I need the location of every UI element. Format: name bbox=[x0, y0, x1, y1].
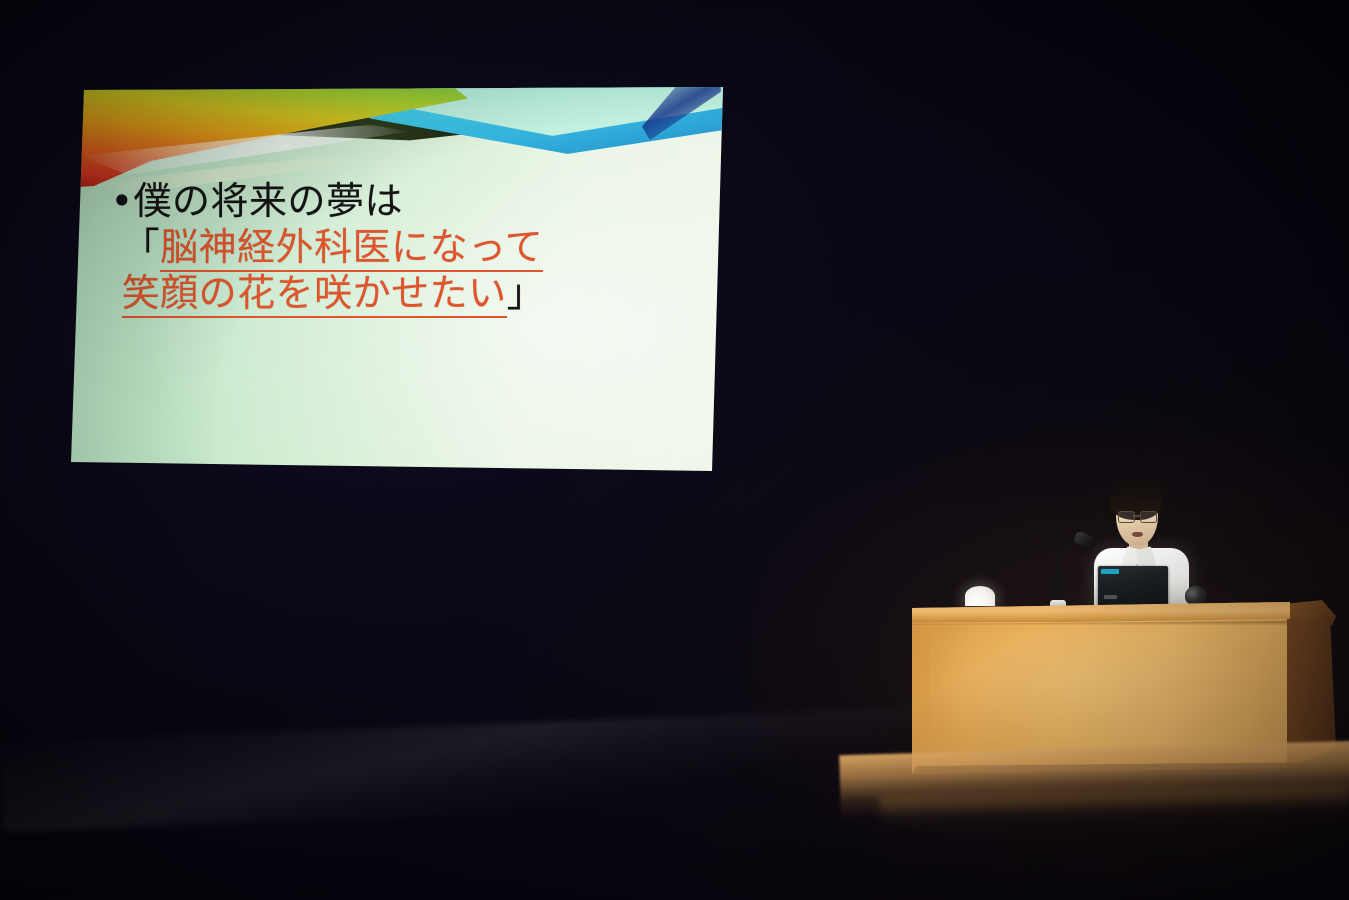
slide-text-block: •僕の将来の夢は 「脳神経外科医になって 笑顔の花を咲かせたい」 bbox=[111, 179, 711, 317]
laptop-sticker bbox=[1101, 569, 1119, 574]
quote-open-bracket: 「 bbox=[122, 225, 161, 269]
slide-line-3: 笑顔の花を咲かせたい」 bbox=[122, 271, 711, 317]
slide-line-1-text: •僕の将来の夢は bbox=[111, 179, 403, 223]
quote-close-bracket: 」 bbox=[507, 271, 546, 315]
slide-line-3-text: 笑顔の花を咲かせたい bbox=[122, 271, 507, 318]
glasses-right-lens bbox=[1140, 511, 1157, 523]
gooseneck-microphone bbox=[1048, 532, 1092, 606]
slide-line-1: •僕の将来の夢は bbox=[111, 179, 711, 225]
glasses-bridge bbox=[1133, 515, 1140, 517]
slide-line-2: 「脳神経外科医になって bbox=[122, 225, 711, 271]
stage-photo: •僕の将来の夢は 「脳神経外科医になって 笑顔の花を咲かせたい」 bbox=[0, 0, 1349, 900]
projection-screen: •僕の将来の夢は 「脳神経外科医になって 笑顔の花を咲かせたい」 bbox=[68, 86, 724, 472]
slide-background: •僕の将来の夢は 「脳神経外科医になって 笑顔の花を咲かせたい」 bbox=[68, 86, 724, 472]
laptop bbox=[1098, 566, 1168, 606]
glasses-icon bbox=[1118, 511, 1135, 523]
laptop-logo bbox=[1104, 595, 1117, 599]
lectern-top-lip bbox=[912, 602, 1290, 622]
slide-line-2-text: 脳神経外科医になって bbox=[160, 225, 543, 272]
presenter-mouth bbox=[1132, 532, 1143, 537]
